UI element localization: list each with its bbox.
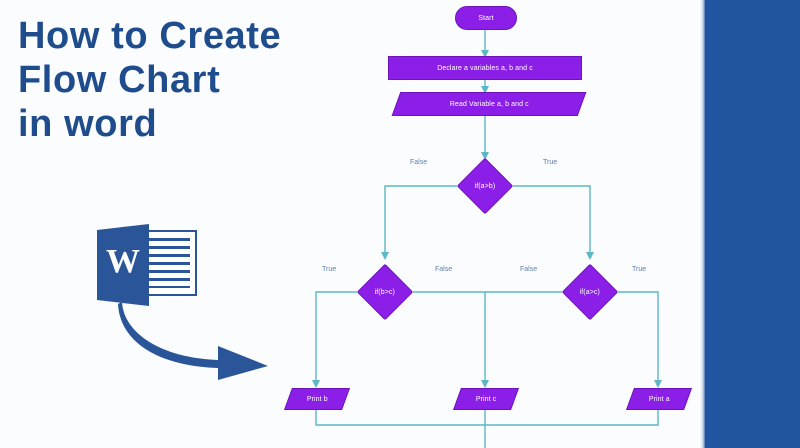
flow-node-print-a-label: Print a [649, 395, 670, 404]
flow-node-print-b[interactable]: Print b [284, 388, 350, 410]
flow-node-decision-a-gt-b-label: if(a>b) [475, 182, 496, 191]
word-letter-w: W [103, 244, 143, 280]
flow-node-declare[interactable]: Declare a variables a, b and c [388, 56, 582, 80]
flow-node-read-label: Read Variable a, b and c [450, 100, 529, 109]
document-text-lines [148, 238, 190, 288]
flow-node-print-b-label: Print b [307, 395, 328, 404]
flow-node-start-label: Start [478, 14, 493, 23]
edge-label-dec2-true: True [322, 265, 336, 274]
flow-node-read[interactable]: Read Variable a, b and c [392, 92, 587, 116]
slide-canvas: How to Create Flow Chart in word W [0, 0, 800, 448]
flow-node-print-c-label: Print c [476, 395, 497, 404]
right-brand-band [705, 0, 800, 448]
flow-node-print-a[interactable]: Print a [626, 388, 692, 410]
flow-node-start[interactable]: Start [455, 6, 517, 30]
flow-node-decision-b-gt-c-label: if(b>c) [375, 288, 395, 297]
edge-label-dec2-false: False [435, 265, 452, 274]
flow-node-print-c[interactable]: Print c [453, 388, 519, 410]
flowchart-diagram: Start Declare a variables a, b and c Rea… [280, 0, 700, 448]
edge-label-dec1-false: False [410, 158, 427, 167]
edge-label-dec3-false: False [520, 265, 537, 274]
edge-label-dec3-true: True [632, 265, 646, 274]
flow-node-decision-a-gt-c[interactable]: if(a>c) [562, 264, 619, 321]
curved-arrow-icon [118, 300, 278, 380]
edge-label-dec1-true: True [543, 158, 557, 167]
flow-node-declare-label: Declare a variables a, b and c [437, 64, 533, 73]
flow-node-decision-a-gt-b[interactable]: if(a>b) [457, 158, 514, 215]
flow-node-decision-b-gt-c[interactable]: if(b>c) [357, 264, 414, 321]
flow-node-decision-a-gt-c-label: if(a>c) [580, 288, 600, 297]
microsoft-word-icon: W [95, 224, 199, 308]
